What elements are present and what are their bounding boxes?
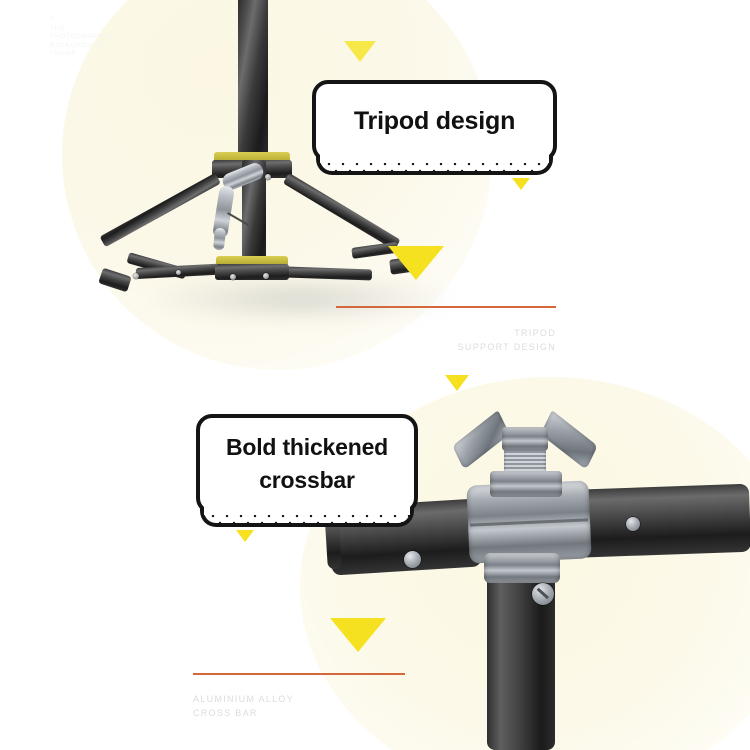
section-tripod: 1THE PHOTOGRAPHIC BACKGROUND FRAME <box>0 0 750 375</box>
wing-nut-right-blade <box>540 410 597 470</box>
divider-rule-tripod <box>336 306 556 308</box>
tripod-lever-tip <box>213 227 226 250</box>
caption-crossbar: ALUMINIUM ALLOY CROSS BAR <box>193 692 413 720</box>
section-crossbar: 2THE PHOTOGRAPHIC BACKGROUND FRAME <box>0 375 750 750</box>
tripod-rivet-1 <box>265 174 271 180</box>
tripod-center-column <box>238 0 268 168</box>
crossbar-screw-left <box>404 551 421 568</box>
tripod-rivet-2 <box>133 273 139 279</box>
tripod-leg-left-upper <box>100 173 221 247</box>
product-pointer-triangle <box>330 618 386 652</box>
badge-tripod-design[interactable]: Tripod design <box>312 80 557 162</box>
wing-nut-body <box>502 427 548 451</box>
caption-tripod: TRIPOD SUPPORT DESIGN <box>356 326 556 354</box>
badge-bottom-seam <box>204 506 410 515</box>
tripod-lower-collar <box>215 264 289 280</box>
divider-rule-crossbar <box>193 673 405 675</box>
tripod-foot-left <box>98 268 131 292</box>
badge-bottom-pointer-triangle <box>512 178 530 190</box>
badge-tripod-label: Tripod design <box>354 106 515 136</box>
tripod-rivet-3 <box>230 274 236 280</box>
product-pointer-triangle <box>388 246 444 280</box>
badge-crossbar-label: Bold thickened crossbar <box>226 431 388 497</box>
crossbar-screw-right <box>626 517 640 531</box>
section-top-pointer-triangle <box>442 375 472 391</box>
product-feature-page: 1THE PHOTOGRAPHIC BACKGROUND FRAME <box>0 0 750 750</box>
crossbar-bolt-flange <box>490 471 562 497</box>
badge-bold-thickened-crossbar[interactable]: Bold thickened crossbar <box>196 414 418 514</box>
badge-top-pointer-triangle <box>344 41 376 62</box>
tripod-rivet-4 <box>263 273 269 279</box>
badge-crossbar-line-1: Bold thickened <box>226 434 388 460</box>
badge-crossbar-line-2: crossbar <box>259 467 355 493</box>
badge-bottom-seam <box>320 154 549 163</box>
riser-chrome-collar <box>484 553 560 583</box>
tripod-rivet-5 <box>176 270 181 275</box>
tripod-leg-right-upper <box>283 173 401 250</box>
badge-bottom-pointer-triangle <box>236 530 254 542</box>
